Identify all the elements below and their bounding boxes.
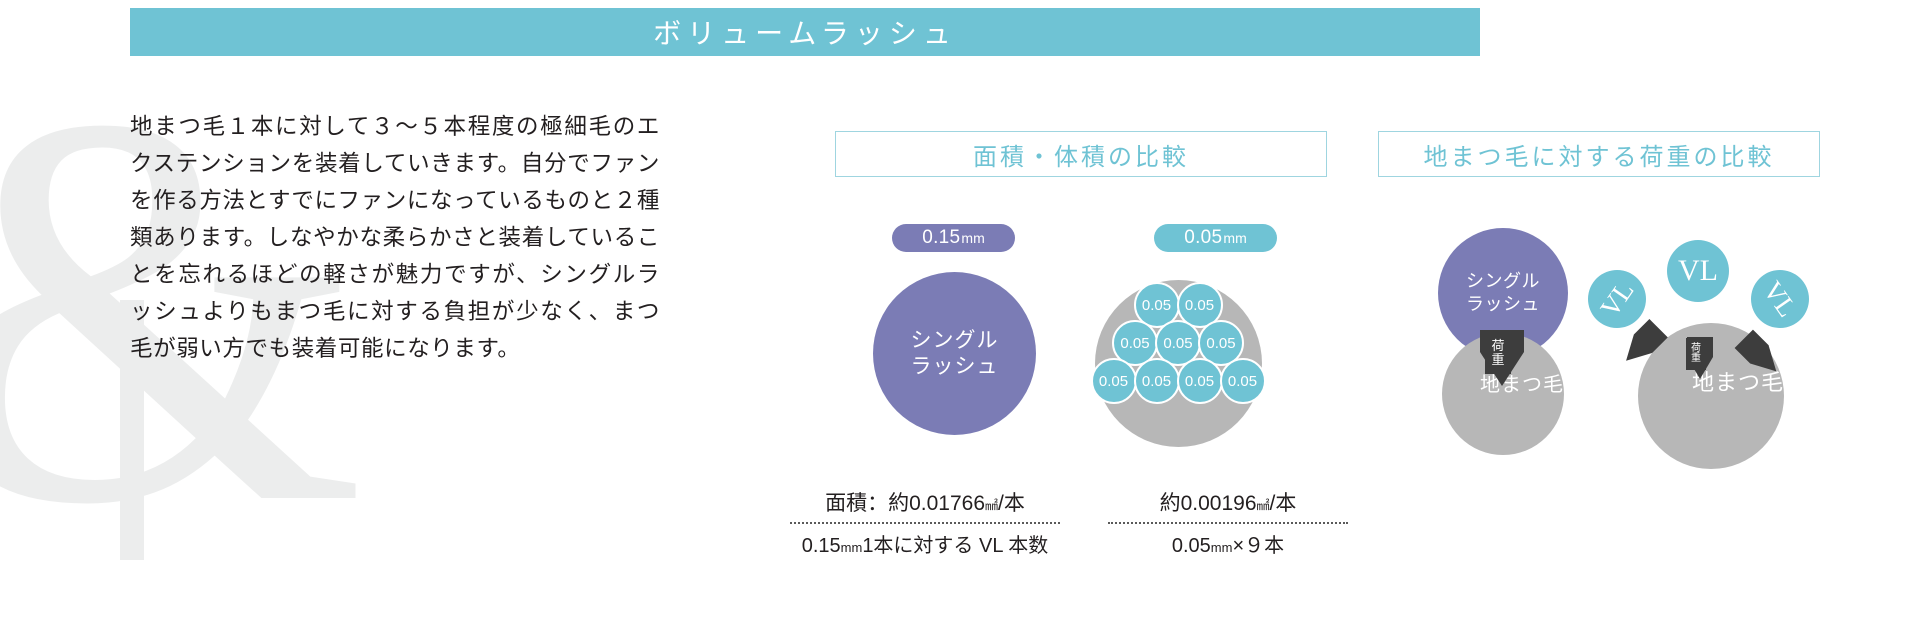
caption-single-lash-divider xyxy=(790,522,1060,524)
badge-thickness-015-value: 0.15 xyxy=(922,227,960,249)
caption-volume-lash: 約0.00196㎟/本 0.05mm×９本 xyxy=(1108,487,1348,558)
badge-thickness-005-value: 0.05 xyxy=(1184,227,1222,249)
vl-circle-left-label: VL xyxy=(1594,275,1640,322)
load-single-lash-label-1: シングル xyxy=(1466,270,1540,293)
badge-thickness-015-unit: mm xyxy=(961,230,984,246)
caption-single-lash-line2-unit: mm xyxy=(841,540,863,555)
page-header-bar: ボリュームラッシュ xyxy=(130,8,1480,56)
caption-single-lash: 面積：約0.01766㎟/本 0.15mm1本に対する VL 本数 xyxy=(790,487,1060,558)
caption-single-lash-line2-prefix: 0.15 xyxy=(802,535,841,557)
caption-volume-lash-line2-suffix: ×９本 xyxy=(1232,535,1284,557)
caption-volume-lash-line2-unit: mm xyxy=(1211,540,1233,555)
caption-volume-lash-unit: ㎟ xyxy=(1257,498,1270,513)
caption-volume-lash-divider xyxy=(1108,522,1348,524)
vl-circle-top-label: VL xyxy=(1678,254,1718,288)
intro-paragraph-text: 地まつ毛１本に対して３〜５本程度の極細毛のエクステンションを装着していきます。自… xyxy=(130,108,660,367)
badge-thickness-005-unit: mm xyxy=(1223,230,1246,246)
load-tag-single-char2: 重 xyxy=(1491,353,1504,367)
vl-circle-top: VL xyxy=(1667,240,1729,302)
single-lash-circle-label-1: シングル xyxy=(911,328,999,354)
volume-lash-mini-circle: 0.05 xyxy=(1177,358,1223,404)
panel-title-area-volume: 面積・体積の比較 xyxy=(835,131,1327,177)
vl-circle-right: VL xyxy=(1740,259,1821,340)
caption-single-lash-value: 面積：約0.01766 xyxy=(825,492,985,515)
load-single-lash-label-2: ラッシュ xyxy=(1466,293,1540,316)
load-arrow-left-icon xyxy=(1608,330,1698,410)
load-tag-single-char1: 荷 xyxy=(1491,339,1504,353)
volume-lash-mini-circle: 0.05 xyxy=(1091,358,1137,404)
intro-paragraph: 地まつ毛１本に対して３〜５本程度の極細毛のエクステンションを装着していきます。自… xyxy=(130,108,660,367)
load-arrow-right-icon xyxy=(1720,330,1810,410)
caption-volume-lash-value: 約0.00196 xyxy=(1160,492,1257,515)
caption-single-lash-unit: ㎟ xyxy=(985,498,998,513)
badge-thickness-015: 0.15 mm xyxy=(892,224,1015,252)
volume-lash-mini-circle: 0.05 xyxy=(1220,358,1266,404)
badge-thickness-005: 0.05 mm xyxy=(1154,224,1277,252)
panel-title-load-label: 地まつ毛に対する荷重の比較 xyxy=(1424,137,1775,172)
load-tag-single: 荷 重 xyxy=(1485,332,1511,374)
caption-volume-lash-suffix: /本 xyxy=(1270,492,1297,515)
panel-title-area-volume-label: 面積・体積の比較 xyxy=(973,137,1189,172)
load-tag-volume-char2: 重 xyxy=(1691,354,1701,365)
page-title: ボリュームラッシュ xyxy=(653,12,957,52)
caption-volume-lash-line2-prefix: 0.05 xyxy=(1172,535,1211,557)
caption-single-lash-suffix: /本 xyxy=(998,492,1025,515)
volume-lash-mini-circle: 0.05 xyxy=(1134,358,1180,404)
load-tag-volume: 荷 重 xyxy=(1686,338,1706,370)
caption-single-lash-line1: 面積：約0.01766㎟/本 xyxy=(790,487,1060,517)
panel-title-load: 地まつ毛に対する荷重の比較 xyxy=(1378,131,1820,177)
caption-volume-lash-line1: 約0.00196㎟/本 xyxy=(1108,487,1348,517)
caption-single-lash-line2: 0.15mm1本に対する VL 本数 xyxy=(790,529,1060,558)
vl-circle-right-label: VL xyxy=(1757,275,1803,322)
caption-single-lash-line2-suffix: 1本に対する VL 本数 xyxy=(862,535,1048,557)
caption-volume-lash-line2: 0.05mm×９本 xyxy=(1108,529,1348,558)
single-lash-circle-label-2: ラッシュ xyxy=(911,354,999,380)
single-lash-circle: シングル ラッシュ xyxy=(873,272,1036,435)
